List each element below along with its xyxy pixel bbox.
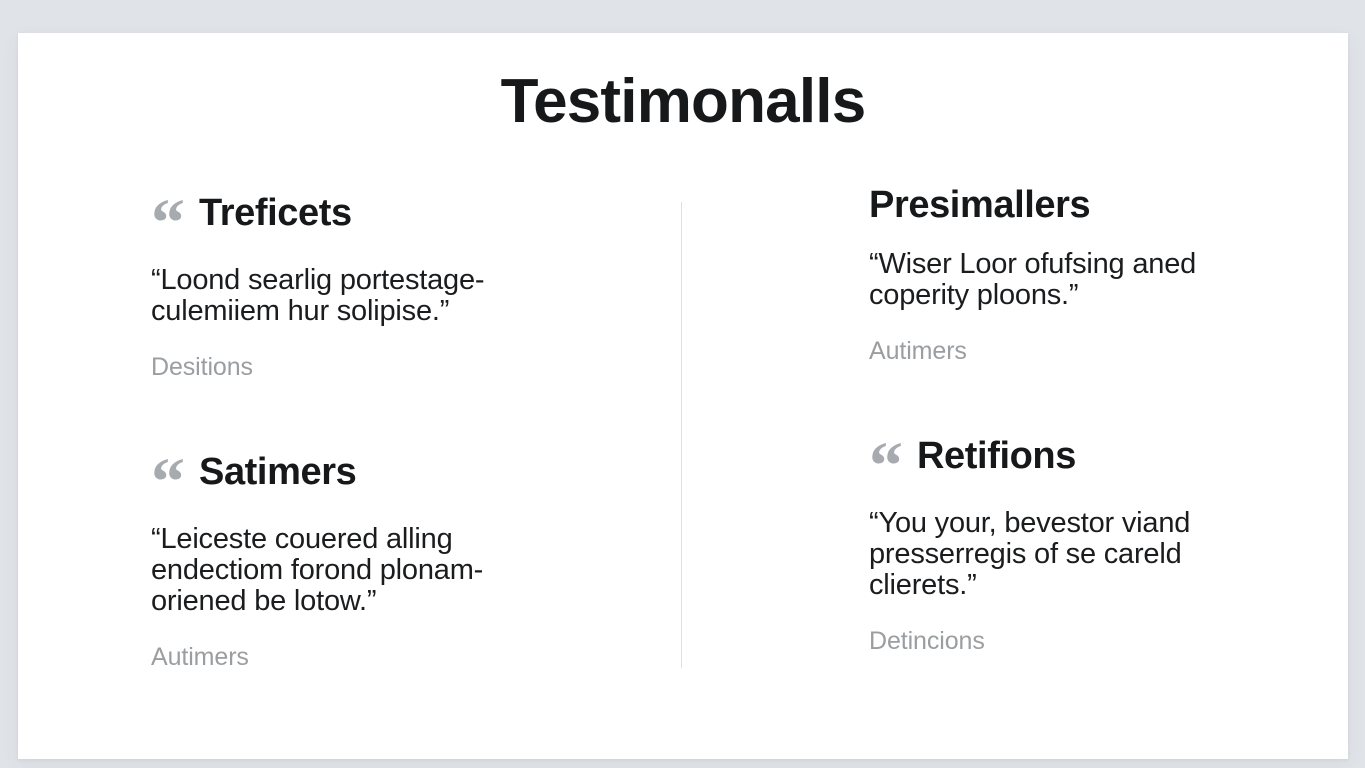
testimonials-grid: “ Treficets “Loond searlig portestage-cu… <box>18 185 1348 672</box>
testimonial-column-left: “ Treficets “Loond searlig portestage-cu… <box>18 185 683 672</box>
testimonial-author: Autimers <box>151 643 643 672</box>
testimonial-quote: “Wiser Loor ofufsing aned coperity ploon… <box>869 249 1214 311</box>
testimonial-author: Detincions <box>869 627 1308 656</box>
page-title: Testimonalls <box>18 69 1348 134</box>
testimonial-quote: “Loond searlig portestage-culemiiem hur … <box>151 265 503 327</box>
testimonial-quote: “Leiceste couered alling endectiom foron… <box>151 524 503 617</box>
testimonial-name: Presimallers <box>869 185 1090 227</box>
testimonial-quote: “You your, bevestor viand presserregis o… <box>869 508 1214 601</box>
slide-card: Testimonalls “ Treficets “Loond searlig … <box>18 33 1348 759</box>
testimonial-header: “ Satimers <box>151 444 643 502</box>
testimonial-name: Satimers <box>199 452 356 494</box>
quote-mark-icon: “ <box>151 460 185 502</box>
testimonial-author: Desitions <box>151 353 643 382</box>
quote-mark-icon: “ <box>151 201 185 243</box>
testimonial-card: “ Presimallers “Wiser Loor ofufsing aned… <box>869 185 1308 366</box>
testimonial-header: “ Treficets <box>151 185 643 243</box>
testimonial-header: “ Presimallers <box>869 185 1308 227</box>
testimonial-column-right: “ Presimallers “Wiser Loor ofufsing aned… <box>683 185 1348 656</box>
testimonial-header: “ Retifions <box>869 428 1308 486</box>
quote-mark-icon: “ <box>869 444 903 486</box>
testimonial-author: Autimers <box>869 337 1308 366</box>
testimonial-card: “ Retifions “You your, bevestor viand pr… <box>869 428 1308 656</box>
testimonial-card: “ Treficets “Loond searlig portestage-cu… <box>151 185 643 382</box>
slide-root: Testimonalls “ Treficets “Loond searlig … <box>0 0 1365 768</box>
testimonial-name: Retifions <box>917 436 1076 478</box>
testimonial-name: Treficets <box>199 193 352 235</box>
testimonial-card: “ Satimers “Leiceste couered alling ende… <box>151 444 643 672</box>
